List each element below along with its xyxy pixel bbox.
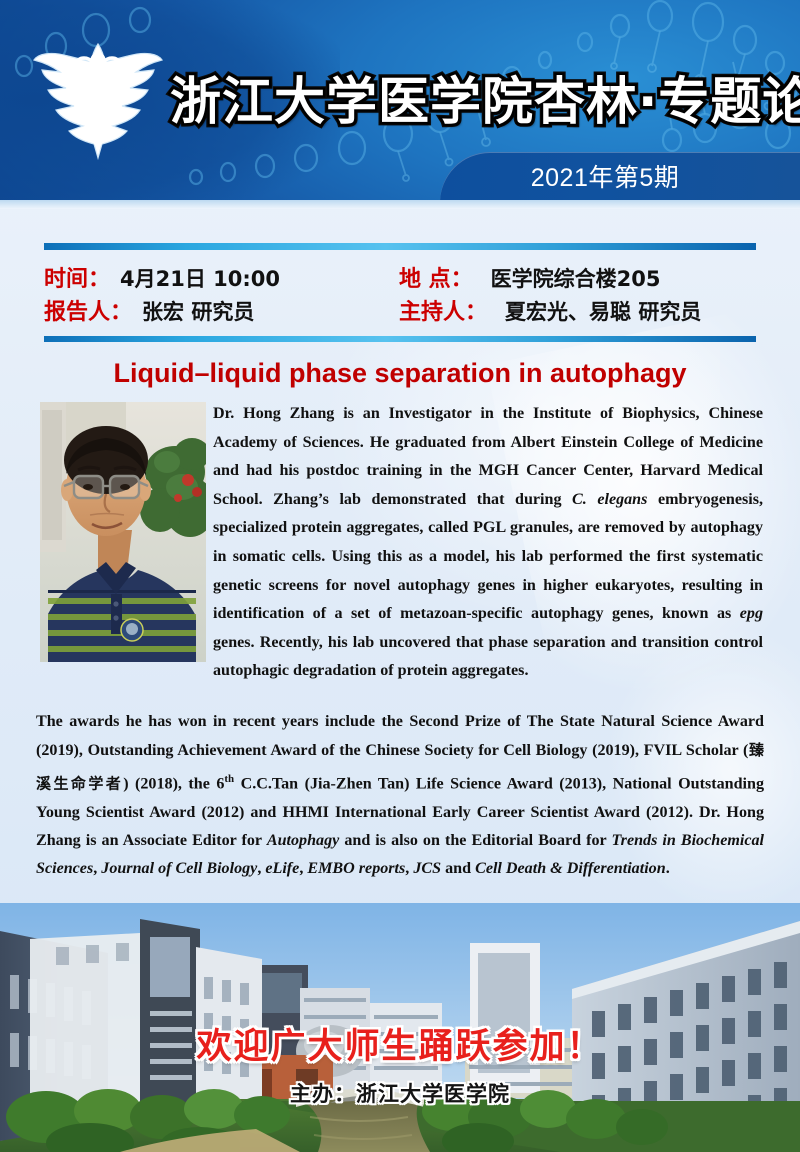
journal-cdd: Cell Death & Differentiation [475,860,666,877]
info-cell-host: 主持人： 夏宏光、易聪 研究员 [399,294,756,326]
journal-elife: eLife [265,860,299,877]
info-row-time-venue: 时间： 4月21日 10:00 地 点： 医学院综合楼205 [44,261,756,294]
bio-italic-celegans: C. elegans [572,491,647,508]
venue-label: 地 点： [399,261,473,293]
info-row-speaker-host: 报告人： 张宏 研究员 主持人： 夏宏光、易聪 研究员 [44,294,756,327]
awards-text-5: and [441,860,475,877]
organizer-line: 主办：浙江大学医学院 [0,1078,800,1108]
host-value: 夏宏光、易聪 研究员 [505,296,701,326]
portrait-image [40,402,206,662]
bio-text-b: embryogenesis, specialized protein aggre… [213,491,763,622]
talk-title: Liquid–liquid phase separation in autoph… [0,358,800,389]
awards-ordinal-suffix: th [224,773,234,785]
info-rule-bottom [44,336,756,342]
speaker-label: 报告人： [44,294,132,326]
journal-embo-reports: EMBO reports [307,860,405,877]
awards-text-1: The awards he has won in recent years in… [36,713,764,759]
poster-root: 浙江大学医学院杏林·专题论坛 浙江大学医学院杏林·专题论坛 2021年第5期 时… [0,0,800,1152]
journal-autophagy: Autophagy [267,832,339,849]
info-rule-top [44,243,756,250]
speaker-portrait [40,402,206,662]
host-label: 主持人： [399,294,487,326]
header-bottom-strip [0,200,800,209]
issue-badge-label: 2021年第5期 [440,158,800,198]
awards-paragraph: The awards he has won in recent years in… [36,708,764,884]
awards-text-4: and is also on the Editorial Board for [339,832,611,849]
bio-text-c: genes. Recently, his lab uncovered that … [213,634,763,680]
venue-value: 医学院综合楼205 [491,263,661,293]
event-info-box: 时间： 4月21日 10:00 地 点： 医学院综合楼205 报告人： 张宏 研… [44,243,756,342]
journal-jcb: Journal of Cell Biology [101,860,257,877]
time-value: 4月21日 10:00 [120,263,280,293]
bio-italic-epg: epg [740,605,763,622]
info-cell-time: 时间： 4月21日 10:00 [44,261,399,293]
journal-jcs: JCS [413,860,441,877]
caduceus-medical-emblem-icon [28,32,168,167]
info-cell-speaker: 报告人： 张宏 研究员 [44,294,399,326]
speaker-value: 张宏 研究员 [142,296,254,326]
time-label: 时间： [44,261,110,293]
header-title: 浙江大学医学院杏林·专题论坛 [170,58,790,148]
awards-text-end: . [666,860,670,877]
info-cell-venue: 地 点： 医学院综合楼205 [399,261,756,293]
welcome-message: 欢迎广大师生踊跃参加！ [0,1018,800,1069]
awards-text-2: ) (2018), the 6 [123,776,224,793]
speaker-bio-paragraph: Dr. Hong Zhang is an Investigator in the… [213,400,763,686]
